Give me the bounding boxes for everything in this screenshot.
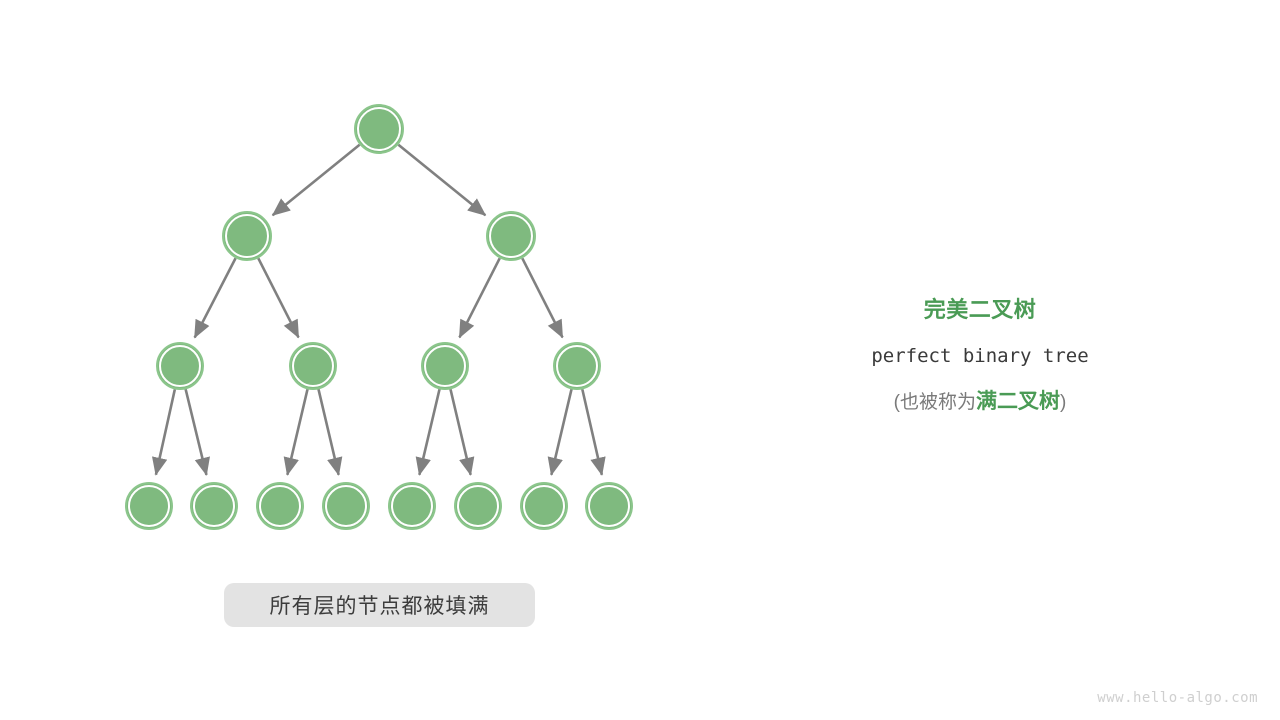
tree-edge [287,389,307,474]
legend-alias: (也被称为满二叉树) [790,387,1170,418]
legend-alias-prefix: (也被称为 [894,392,976,413]
legend-alias-suffix: ) [1060,392,1066,413]
legend-block: 完美二叉树 perfect binary tree (也被称为满二叉树) [790,295,1170,418]
tree-edge [186,389,207,475]
tree-node-core [295,348,332,385]
tree-edge [195,258,236,337]
tree-node [191,483,237,529]
tree-node [257,483,303,529]
tree-edge [451,389,471,474]
tree-node [389,483,435,529]
tree-node-core [228,217,267,256]
tree-node [323,483,369,529]
tree-node [455,483,501,529]
tree-node [157,343,203,389]
tree-node [355,105,403,153]
tree-edge [582,389,602,474]
tree-edges [156,145,602,475]
tree-node [126,483,172,529]
tree-node [223,212,271,260]
tree-node [554,343,600,389]
tree-node-core [196,488,233,525]
tree-node [487,212,535,260]
caption-badge: 所有层的节点都被填满 [224,583,535,627]
tree-edge [459,258,499,337]
tree-node-core [492,217,531,256]
tree-edge [258,258,298,337]
tree-node-core [131,488,168,525]
tree-edge [522,258,562,337]
tree-edge [319,389,339,474]
tree-node-core [360,110,399,149]
tree-node [521,483,567,529]
tree-edge [156,389,175,474]
tree-node-core [460,488,497,525]
tree-node-core [328,488,365,525]
tree-node-core [394,488,431,525]
tree-node-core [262,488,299,525]
legend-subtitle: perfect binary tree [790,341,1170,371]
tree-node [586,483,632,529]
legend-alias-highlight: 满二叉树 [976,390,1060,413]
tree-edge [551,389,571,474]
tree-edge [419,389,439,474]
tree-node [290,343,336,389]
tree-edge [398,145,485,215]
tree-node [422,343,468,389]
caption-label: 所有层的节点都被填满 [270,590,490,620]
watermark-label: www.hello-algo.com [1097,690,1258,706]
tree-node-core [526,488,563,525]
legend-title: 完美二叉树 [790,295,1170,325]
tree-node-core [162,348,199,385]
tree-edge [273,145,360,215]
tree-node-core [559,348,596,385]
tree-node-core [427,348,464,385]
tree-nodes [126,105,632,529]
tree-node-core [591,488,628,525]
